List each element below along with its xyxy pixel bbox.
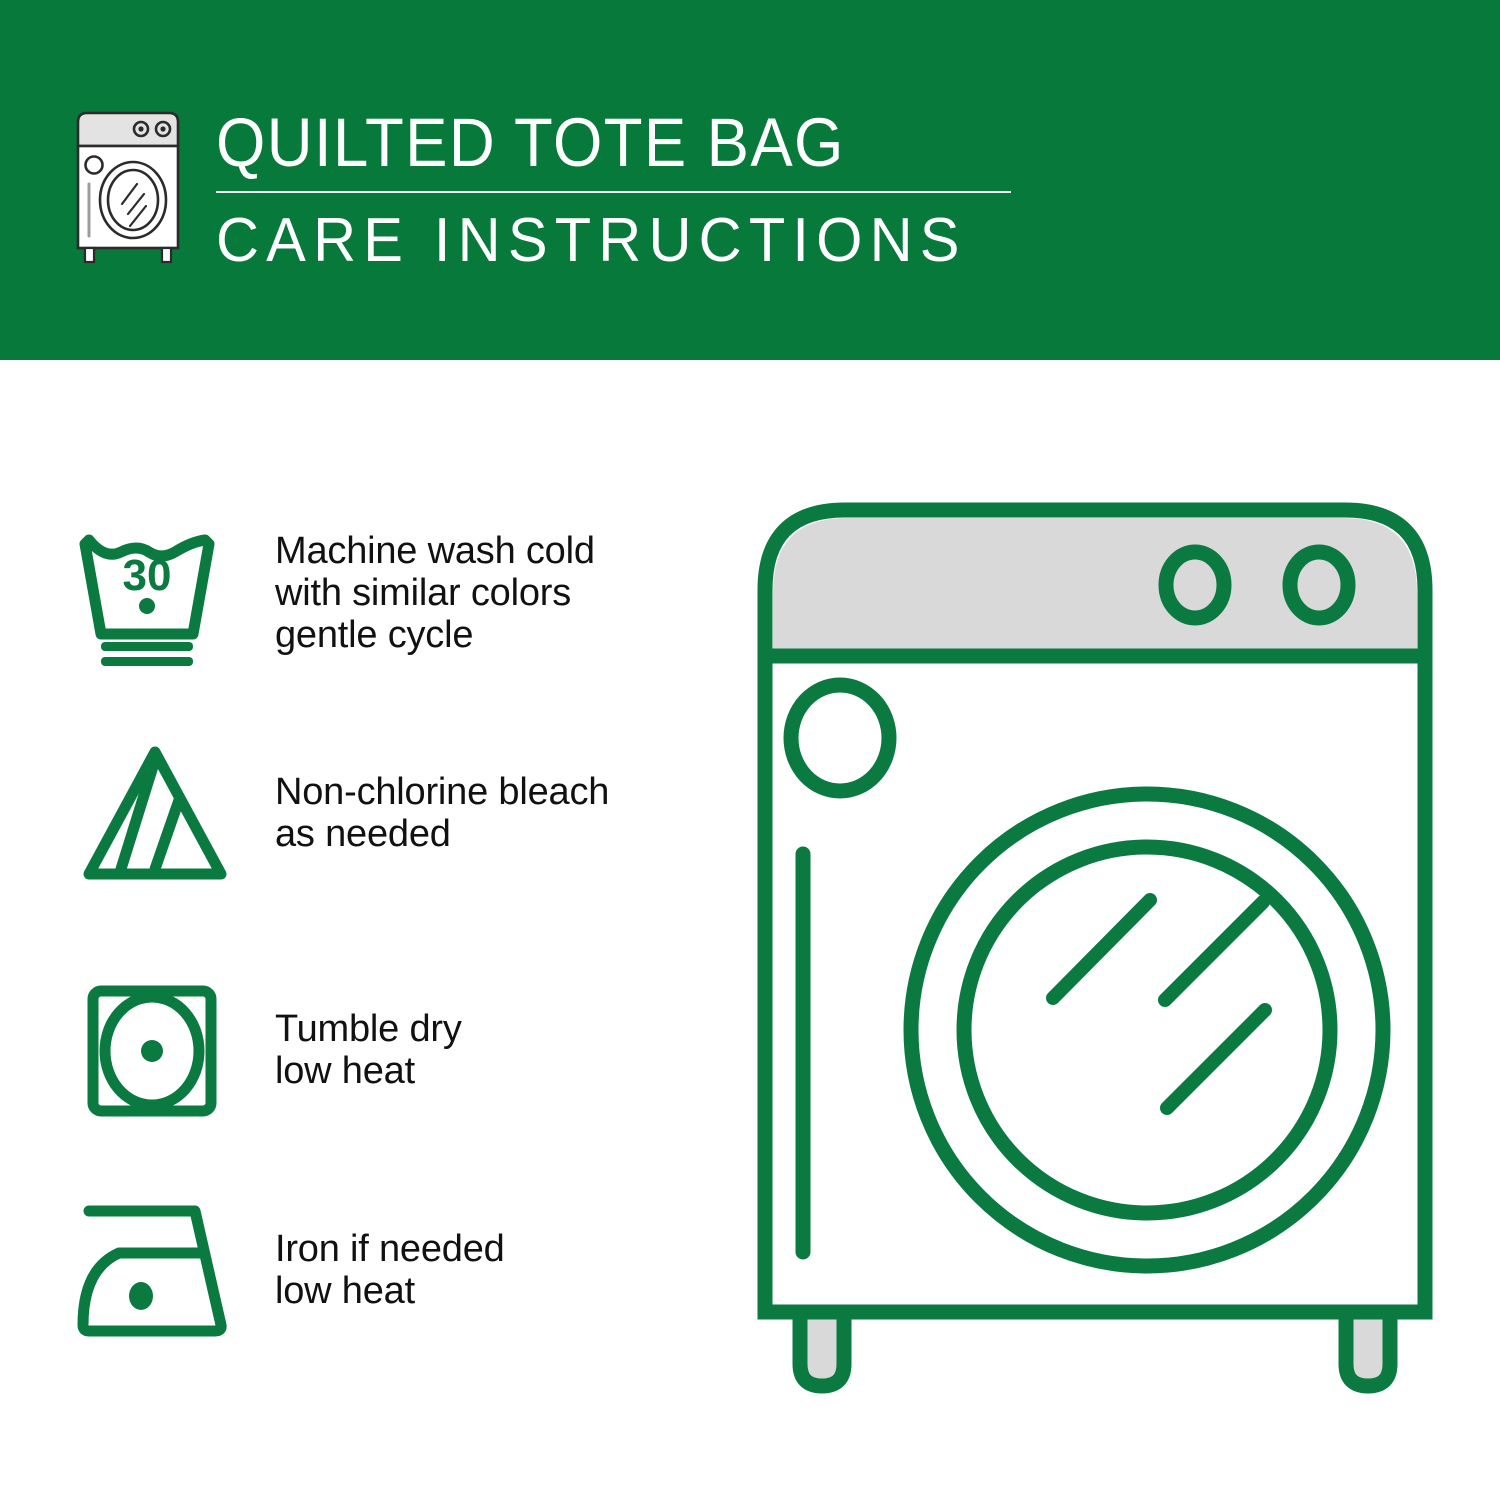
page-title: QUILTED TOTE BAG — [216, 104, 961, 182]
care-line: gentle cycle — [275, 614, 595, 656]
care-line: Tumble dry — [275, 1008, 462, 1050]
care-row-label: Tumble dry low heat — [275, 1008, 462, 1092]
washing-machine-icon — [62, 108, 194, 268]
care-row-label: Non-chlorine bleach as needed — [275, 771, 609, 855]
page-subtitle: CARE INSTRUCTIONS — [216, 206, 994, 276]
washing-machine-illustration — [735, 480, 1455, 1440]
header-banner: QUILTED TOTE BAG CARE INSTRUCTIONS — [0, 0, 1500, 360]
non-chlorine-bleach-triangle-icon — [72, 738, 237, 888]
care-row-iron: Iron if needed low heat — [72, 1195, 702, 1345]
care-row-label: Iron if needed low heat — [275, 1228, 505, 1312]
care-line: Iron if needed — [275, 1228, 505, 1270]
title-divider — [216, 191, 1011, 193]
care-line: low heat — [275, 1050, 462, 1092]
wash-tub-30-gentle-icon: 30 — [72, 518, 237, 668]
care-instruction-list: 30 Machine wash cold with similar colors… — [0, 360, 720, 1500]
care-line: as needed — [275, 813, 609, 855]
care-line: Non-chlorine bleach — [275, 771, 609, 813]
care-line: low heat — [275, 1270, 505, 1312]
wash-temperature-value: 30 — [122, 551, 171, 600]
care-row-bleach: Non-chlorine bleach as needed — [72, 738, 702, 888]
care-line: with similar colors — [275, 572, 595, 614]
tumble-dry-low-icon — [72, 975, 237, 1125]
care-row-machine-wash: 30 Machine wash cold with similar colors… — [72, 518, 702, 668]
care-instructions-page: QUILTED TOTE BAG CARE INSTRUCTIONS 30 Ma… — [0, 0, 1500, 1500]
care-line: Machine wash cold — [275, 530, 595, 572]
iron-low-heat-icon — [72, 1195, 237, 1345]
care-row-label: Machine wash cold with similar colors ge… — [275, 530, 595, 656]
header-text-block: QUILTED TOTE BAG CARE INSTRUCTIONS — [216, 104, 1026, 276]
control-panel — [773, 518, 1417, 656]
care-row-tumble-dry: Tumble dry low heat — [72, 975, 702, 1125]
